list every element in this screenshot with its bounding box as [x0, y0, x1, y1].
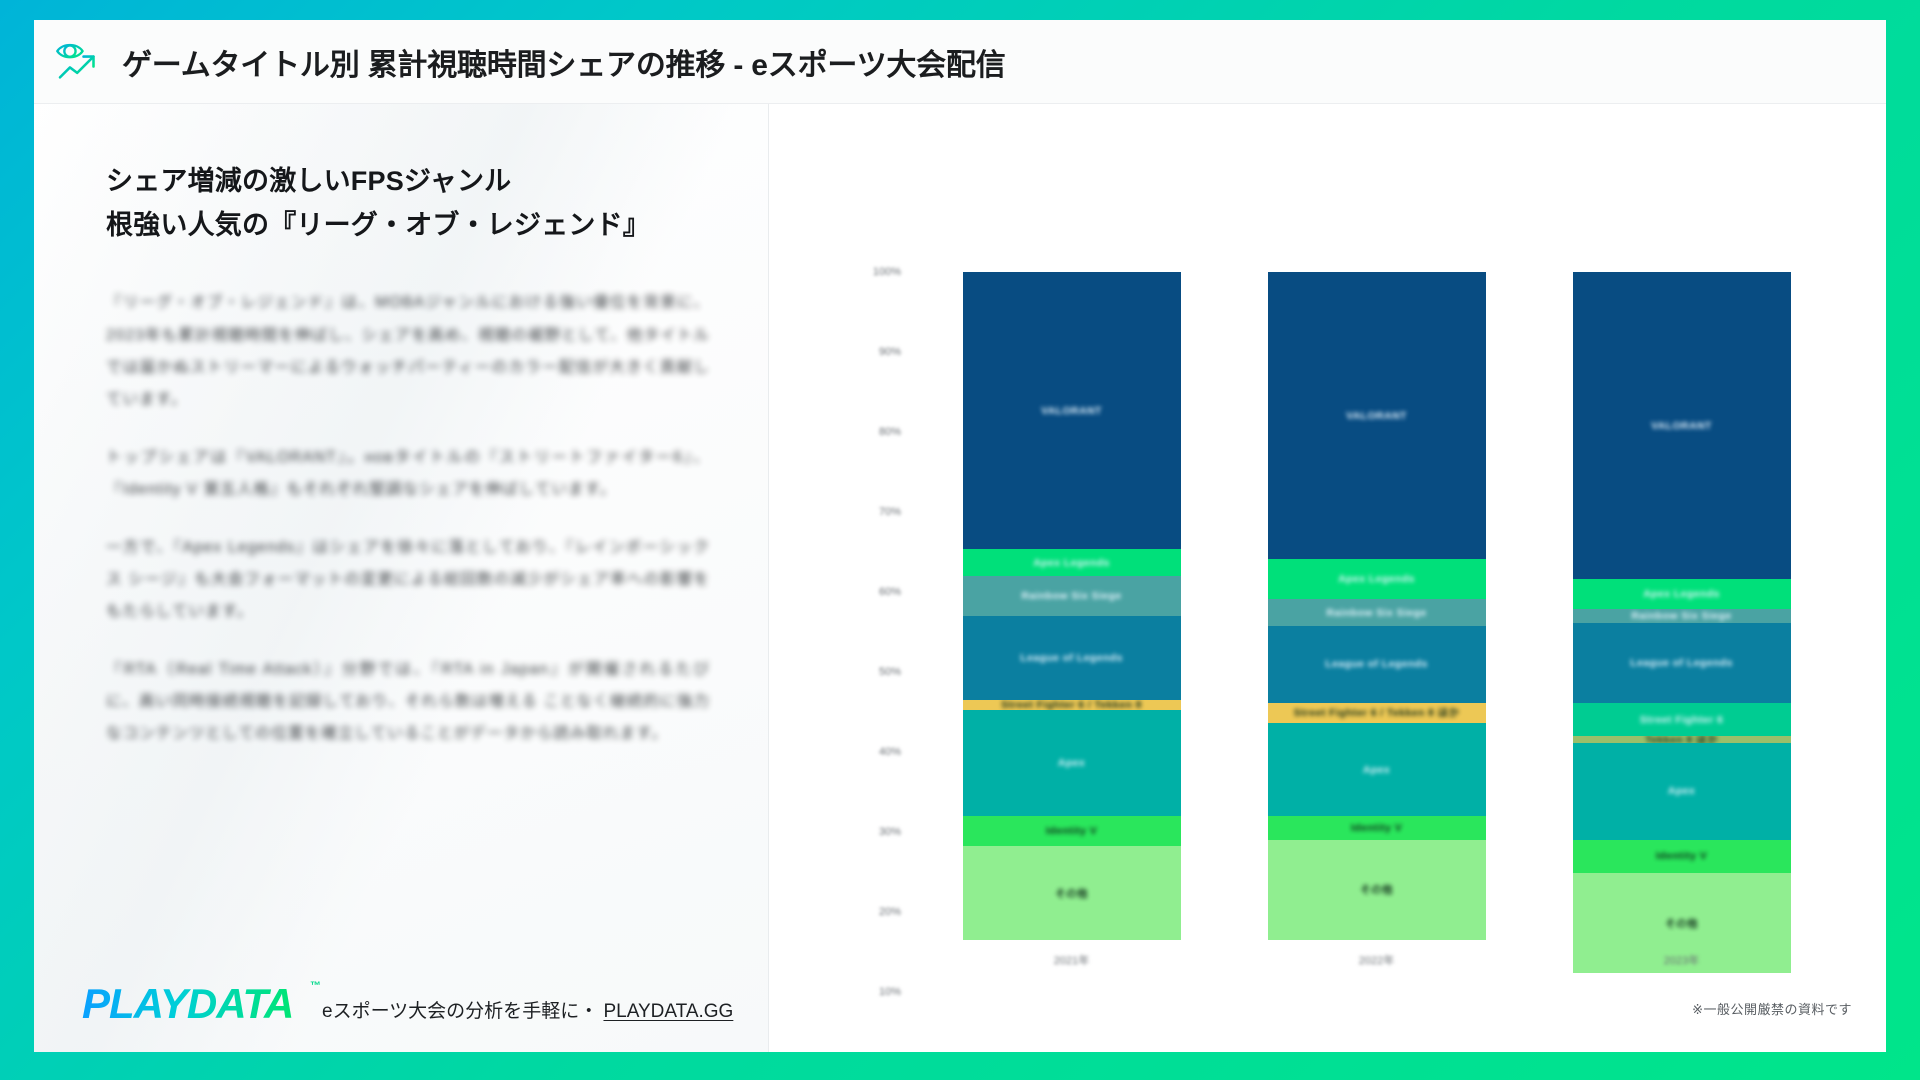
bar-segment[interactable]: Street Fighter 6 / Tekken 8 ほか	[1268, 703, 1486, 723]
body-paragraph: トップシェアは『VALORANT』。новタイトルの『ストリートファイター6』、…	[106, 442, 710, 506]
headline-line-2: 根強い人気の『リーグ・オブ・レジェンド』	[106, 204, 720, 248]
y-axis-tick: 80%	[879, 426, 901, 438]
footer: PLAYDATA ™ eスポーツ大会の分析を手軽に・ PLAYDATA.GG	[82, 982, 733, 1026]
bar-segment[interactable]: Rainbow Six Siege	[963, 576, 1181, 616]
bar-segment[interactable]: Identity V	[1268, 816, 1486, 839]
bar-segment[interactable]: Apex Legends	[1268, 559, 1486, 599]
bar-segment-label: Street Fighter 6 / Tekken 8	[1001, 700, 1142, 710]
bar-segment-label: Rainbow Six Siege	[1326, 607, 1426, 619]
tagline-text: eスポーツ大会の分析を手軽に・	[322, 1001, 603, 1022]
eye-trend-icon	[50, 33, 108, 91]
bar-segment-label: Apex	[1363, 764, 1390, 776]
slide-header: ゲームタイトル別 累計視聴時間シェアの推移 - eスポーツ大会配信	[34, 20, 1886, 104]
bar-segment[interactable]: Rainbow Six Siege	[1573, 609, 1791, 622]
bar-segment-label: VALORANT	[1651, 420, 1712, 432]
bar-segment-label: Apex Legends	[1033, 557, 1110, 569]
slide-sheet: ゲームタイトル別 累計視聴時間シェアの推移 - eスポーツ大会配信 シェア増減の…	[34, 20, 1886, 1052]
bar-segment-label: Rainbow Six Siege	[1021, 590, 1121, 602]
bar-segment-label: Identity V	[1351, 822, 1402, 834]
headline-line-1: シェア増減の激しいFPSジャンル	[106, 160, 720, 204]
bar-segment[interactable]: Apex	[1268, 723, 1486, 817]
body-paragraph: 一方で、『Apex Legends』はシェアを徐々に落としており、『レインボーシ…	[106, 532, 710, 628]
body-paragraph: 『リーグ・オブ・レジェンド』は、MOBAジャンルにおける強い優位を背景に、202…	[106, 287, 710, 415]
headline: シェア増減の激しいFPSジャンル 根強い人気の『リーグ・オブ・レジェンド』	[106, 160, 720, 247]
page-gradient-frame: ゲームタイトル別 累計視聴時間シェアの推移 - eスポーツ大会配信 シェア増減の…	[0, 0, 1920, 1080]
bar-segment-label: Apex Legends	[1643, 588, 1720, 600]
y-axis-tick: 40%	[879, 746, 901, 758]
bar-segment-label: VALORANT	[1346, 410, 1407, 422]
bar-segment[interactable]: Identity V	[963, 816, 1181, 846]
y-axis-tick: 70%	[879, 506, 901, 518]
bar-segment-label: Apex Legends	[1338, 573, 1415, 585]
left-panel: シェア増減の激しいFPSジャンル 根強い人気の『リーグ・オブ・レジェンド』 『リ…	[34, 104, 769, 1052]
bar-segment[interactable]: Street Fighter 6	[1573, 703, 1791, 736]
bar-segment-label: Street Fighter 6 / Tekken 8 ほか	[1294, 705, 1460, 720]
bar-segment[interactable]: その他	[963, 846, 1181, 940]
stacked-bar-chart: 100%90%80%70%60%50%40%30%20%10%0% VALORA…	[769, 104, 1886, 1052]
y-axis: 100%90%80%70%60%50%40%30%20%10%0%	[841, 272, 901, 1052]
bar-segment-label: VALORANT	[1041, 405, 1102, 417]
svg-text:PLAYDATA: PLAYDATA	[82, 982, 293, 1026]
y-axis-tick: 90%	[879, 346, 901, 358]
body-paragraph: 『RTA（Real Time Attack）』分野では、『RTA in Japa…	[106, 654, 710, 750]
y-axis-tick: 10%	[879, 986, 901, 998]
bar-segment-label: その他	[1665, 916, 1698, 931]
bar-segment[interactable]: Rainbow Six Siege	[1268, 599, 1486, 626]
bar-segment[interactable]: その他	[1268, 840, 1486, 940]
confidential-note: ※一般公開厳禁の資料です	[1692, 999, 1852, 1018]
y-axis-tick: 30%	[879, 826, 901, 838]
bar-segment[interactable]: League of Legends	[1268, 626, 1486, 703]
footer-tagline: eスポーツ大会の分析を手軽に・ PLAYDATA.GG	[322, 996, 733, 1026]
y-axis-tick: 50%	[879, 666, 901, 678]
playdata-gg-link[interactable]: PLAYDATA.GG	[603, 1001, 733, 1022]
bar-segment[interactable]: Street Fighter 6 / Tekken 8	[963, 700, 1181, 710]
bar-segment[interactable]: League of Legends	[963, 616, 1181, 700]
bar-column[interactable]: VALORANTApex LegendsRainbow Six SiegeLea…	[1268, 272, 1486, 940]
bar-segment[interactable]: Tekken 8 ほか	[1573, 736, 1791, 743]
bar-segment-label: League of Legends	[1020, 652, 1122, 664]
bar-segment[interactable]: VALORANT	[963, 272, 1181, 549]
playdata-logo[interactable]: PLAYDATA ™	[82, 982, 312, 1026]
right-panel: 100%90%80%70%60%50%40%30%20%10%0% VALORA…	[769, 104, 1886, 1052]
bar-segment[interactable]: Apex Legends	[963, 549, 1181, 576]
bar-segment-label: その他	[1360, 882, 1393, 897]
trademark-symbol: ™	[310, 980, 321, 992]
bar-segment-label: Apex	[1668, 785, 1695, 797]
bar-column[interactable]: VALORANTApex LegendsRainbow Six SiegeLea…	[1573, 272, 1791, 940]
slide-body: シェア増減の激しいFPSジャンル 根強い人気の『リーグ・オブ・レジェンド』 『リ…	[34, 104, 1886, 1052]
bar-segment[interactable]: Identity V	[1573, 840, 1791, 873]
plot-area: VALORANTApex LegendsRainbow Six SiegeLea…	[919, 272, 1834, 940]
y-axis-tick: 100%	[873, 266, 901, 278]
x-axis-label: 2022年	[1268, 952, 1486, 968]
bar-segment[interactable]: Apex	[963, 710, 1181, 817]
bar-segment-label: Identity V	[1046, 825, 1097, 837]
y-axis-tick: 20%	[879, 906, 901, 918]
bar-column[interactable]: VALORANTApex LegendsRainbow Six SiegeLea…	[963, 272, 1181, 940]
y-axis-tick: 60%	[879, 586, 901, 598]
bar-segment[interactable]: League of Legends	[1573, 623, 1791, 703]
bar-segment-label: League of Legends	[1630, 657, 1732, 669]
x-axis-label: 2021年	[963, 952, 1181, 968]
page-title: ゲームタイトル別 累計視聴時間シェアの推移 - eスポーツ大会配信	[122, 40, 1006, 84]
body-copy: 『リーグ・オブ・レジェンド』は、MOBAジャンルにおける強い優位を背景に、202…	[106, 287, 710, 750]
bar-segment-label: Identity V	[1656, 850, 1707, 862]
bar-segment-label: Apex	[1058, 757, 1085, 769]
x-axis-label: 2023年	[1573, 952, 1791, 968]
bar-segment-label: League of Legends	[1325, 658, 1427, 670]
bar-segment[interactable]: VALORANT	[1268, 272, 1486, 559]
bar-segment-label: Rainbow Six Siege	[1631, 610, 1731, 622]
bar-segment[interactable]: VALORANT	[1573, 272, 1791, 579]
bar-segment[interactable]: Apex Legends	[1573, 579, 1791, 609]
bar-segment-label: Tekken 8 ほか	[1645, 736, 1717, 743]
bar-segment[interactable]: Apex	[1573, 743, 1791, 840]
bar-segment-label: その他	[1055, 886, 1088, 901]
bar-segment-label: Street Fighter 6	[1640, 714, 1723, 726]
